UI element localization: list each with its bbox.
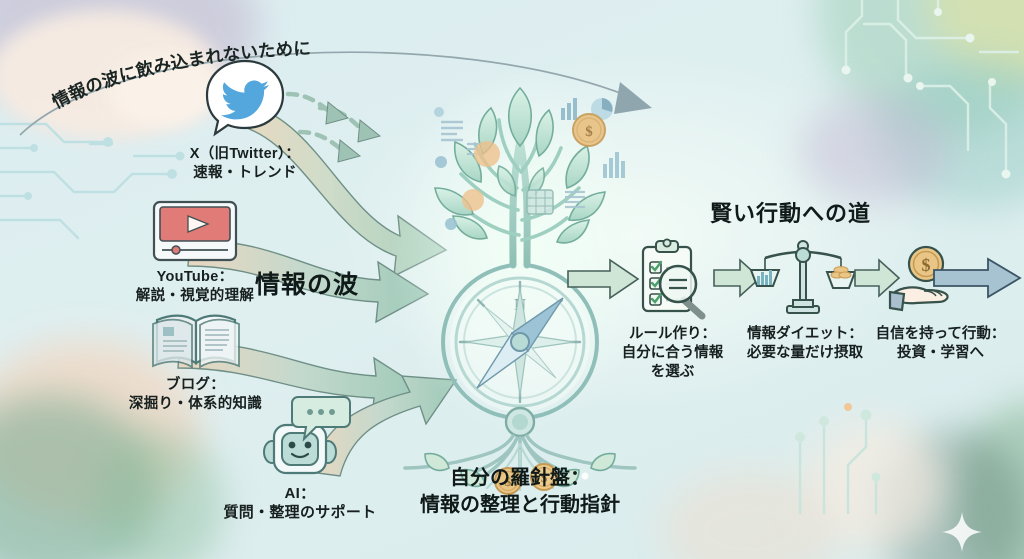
step-label-line3: を選ぶ <box>590 363 755 382</box>
center-caption-line2: 情報の整理と行動指針 <box>405 492 635 519</box>
clipboard-magnifier-icon[interactable] <box>634 238 712 318</box>
balance-scale-icon[interactable] <box>753 240 853 318</box>
svg-text:$: $ <box>585 124 593 140</box>
wave-label: 情報の波 <box>255 265 359 301</box>
source-node-blog[interactable]: ブログ： 深掘り・体系的知識 <box>98 308 293 413</box>
youtube-player-icon <box>152 200 238 262</box>
source-node-twitter[interactable]: X（旧Twitter）： 速報・トレンド <box>155 55 335 182</box>
source-label-line2: 速報・トレンド <box>155 164 335 183</box>
circuit-traces-bottom-right <box>790 395 930 515</box>
infographic-canvas: 情報の波に飲み込まれないために <box>0 0 1024 559</box>
speech-bubble-icon <box>290 395 352 441</box>
source-label-line2: 質問・整理のサポート <box>200 503 400 522</box>
path-arrow-1 <box>568 258 640 300</box>
open-book-icon <box>151 308 241 370</box>
twitter-bird-icon <box>201 55 289 143</box>
source-label-line1: X（旧Twitter）： <box>155 145 335 164</box>
center-caption-line1: 自分の羅針盤： <box>405 465 635 492</box>
svg-text:$: $ <box>922 255 931 275</box>
step-label-line2: 投資・学習へ <box>858 344 1023 363</box>
source-label-line1: AI： <box>200 484 400 503</box>
sparkle-icon <box>940 510 984 554</box>
circuit-traces-top-right <box>820 0 1024 190</box>
step-caption-action: 自信を持って行動： 投資・学習へ <box>858 325 1023 363</box>
step-label-line1: 自信を持って行動： <box>858 325 1023 344</box>
path-label: 賢い行動への道 <box>710 196 871 228</box>
source-label-line1: ブログ： <box>98 376 293 395</box>
center-caption: 自分の羅針盤： 情報の整理と行動指針 <box>405 465 635 519</box>
final-path-arrow <box>934 257 1022 299</box>
